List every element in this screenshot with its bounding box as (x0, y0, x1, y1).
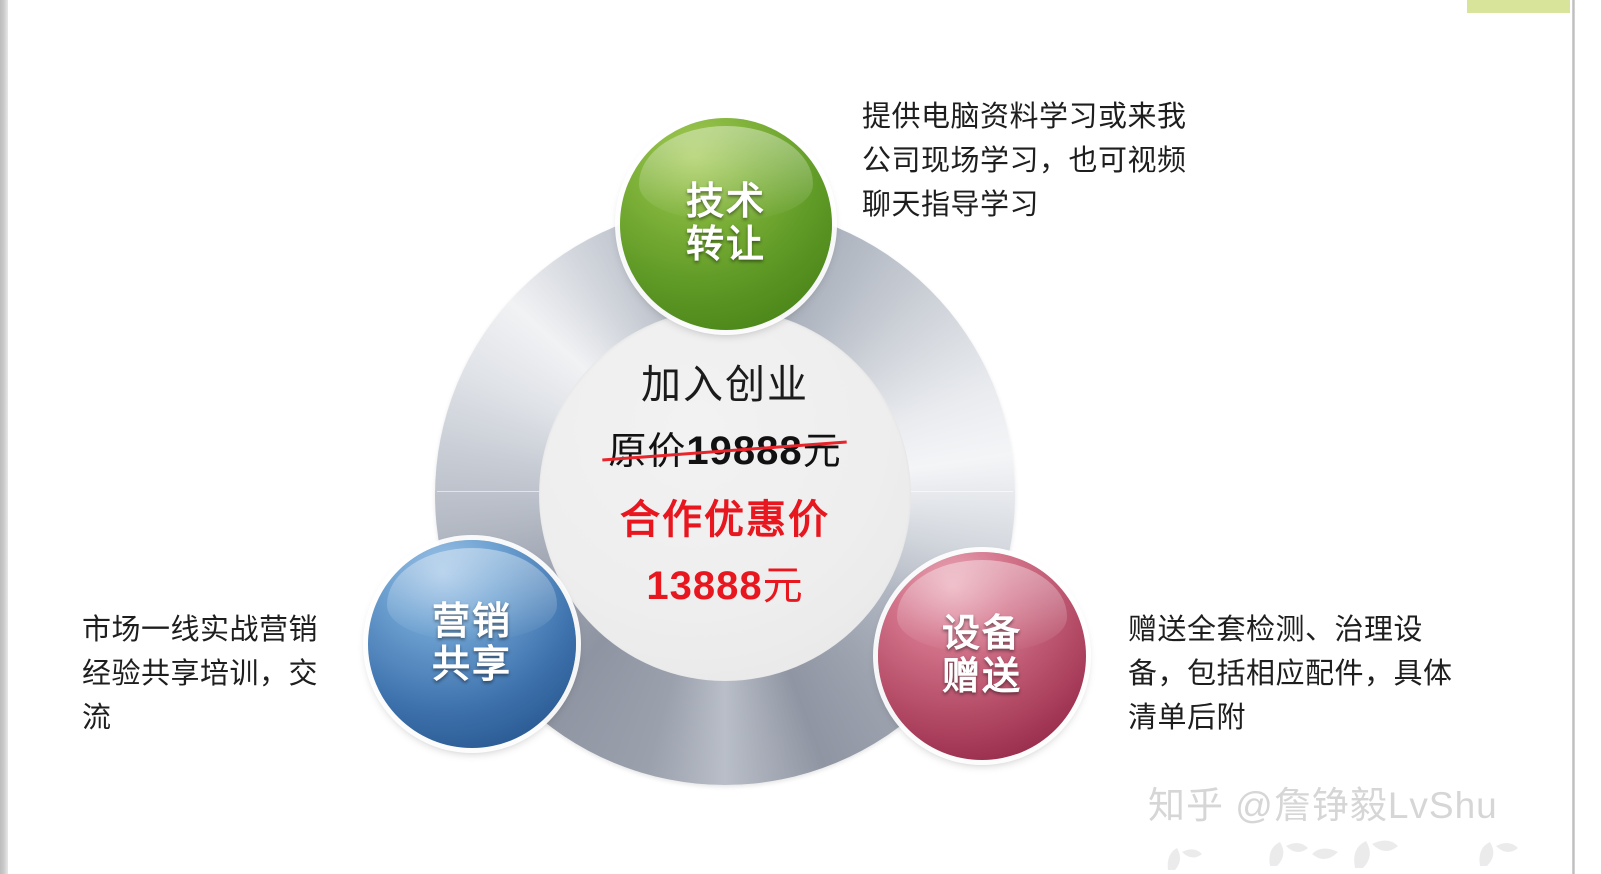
slide-right-edge-rule (1572, 0, 1575, 874)
node-equipment-gift-line1: 设备 (942, 613, 1022, 656)
node-marketing-sharing[interactable]: 营销 共享 (368, 540, 576, 748)
caption-marketing-sharing: 市场一线实战营销经验共享培训，交流 (82, 608, 344, 740)
promo-price: 13888元 (540, 561, 910, 611)
top-right-green-band (1467, 0, 1570, 13)
original-price-prefix: 原价 (608, 431, 686, 473)
promo-price-unit: 元 (763, 563, 804, 608)
original-price-unit: 元 (803, 431, 842, 473)
slide-left-edge-strip (0, 0, 8, 874)
node-technology-transfer-line2: 转让 (686, 224, 766, 267)
node-technology-transfer-label: 技术 转让 (686, 181, 766, 266)
center-offer-block: 加入创业 原价19888元 合作优惠价 13888元 (540, 360, 910, 611)
node-marketing-sharing-label: 营销 共享 (432, 601, 512, 686)
zhihu-watermark: 知乎 @詹铮毅LvShu (1148, 775, 1498, 829)
leaf-watermark-icon (1150, 826, 1570, 874)
slide-canvas: 加入创业 原价19888元 合作优惠价 13888元 技术 转让 营销 共享 设… (0, 0, 1601, 874)
node-technology-transfer[interactable]: 技术 转让 (620, 118, 832, 330)
caption-equipment-gift: 赠送全套检测、治理设备，包括相应配件，具体清单后附 (1128, 608, 1458, 740)
node-marketing-sharing-line1: 营销 (432, 601, 512, 644)
ring-seam-right (909, 491, 1013, 492)
promo-price-number: 13888 (646, 564, 762, 608)
caption-technology-transfer: 提供电脑资料学习或来我公司现场学习，也可视频聊天指导学习 (862, 95, 1207, 227)
ring-seam-left (437, 491, 541, 492)
node-equipment-gift-label: 设备 赠送 (942, 613, 1022, 698)
node-marketing-sharing-line2: 共享 (432, 644, 512, 687)
node-equipment-gift[interactable]: 设备 赠送 (878, 552, 1086, 760)
node-equipment-gift-line2: 赠送 (942, 656, 1022, 699)
center-heading: 加入创业 (540, 360, 910, 410)
promo-label: 合作优惠价 (540, 495, 910, 545)
original-price: 原价19888元 (608, 426, 841, 477)
node-technology-transfer-line1: 技术 (686, 181, 766, 224)
